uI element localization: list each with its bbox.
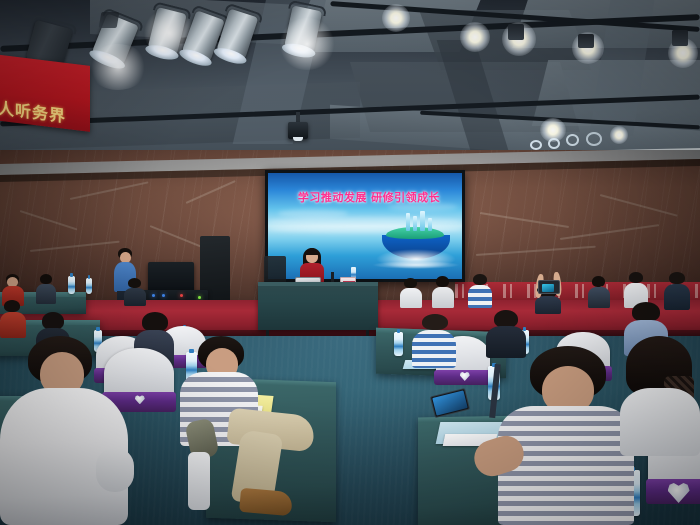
downlight-can	[672, 30, 688, 46]
ship-tower	[413, 216, 417, 231]
ship-tower	[420, 211, 425, 231]
head-table	[258, 282, 378, 330]
downlight-can	[508, 24, 524, 40]
attendee-shirt	[535, 296, 561, 314]
attendee-hair	[40, 274, 52, 284]
ring-light	[586, 132, 602, 146]
chair-leg-cover	[188, 452, 210, 510]
attendee-shirt	[412, 330, 456, 368]
microphone-stand	[331, 272, 334, 282]
projector-lens	[293, 137, 303, 141]
attendee-arm	[96, 448, 134, 492]
status-led	[162, 294, 165, 297]
slide-title-text: 学习推动发展 研修引领成长	[274, 189, 462, 205]
ceiling-downlight	[610, 126, 628, 144]
attendee-hair	[128, 278, 141, 288]
attendee-hair	[669, 272, 685, 284]
attendee-foreground-left	[0, 336, 128, 525]
attendee-hair	[436, 276, 449, 287]
attendee	[124, 278, 146, 306]
status-led	[198, 296, 201, 299]
ship-tower	[428, 218, 432, 231]
slide-cloud	[278, 209, 348, 218]
attendee-on-phone	[496, 346, 636, 525]
conference-hall-photo: 人听务界 学习推动发展 研修引领成长	[0, 0, 700, 525]
attendee-shirt	[588, 287, 610, 308]
wall-texture-line	[20, 210, 78, 230]
slide-ship-graphic	[376, 213, 456, 271]
compact-camera	[538, 280, 560, 294]
attendee-shirt	[620, 388, 700, 456]
wall-texture-line	[476, 246, 596, 256]
wall-texture-line	[600, 194, 678, 217]
attendee	[412, 314, 456, 368]
attendee-hair	[592, 276, 605, 287]
attendee-hair	[404, 278, 417, 288]
wall-texture-line	[186, 180, 236, 204]
attendee-hair	[629, 272, 643, 283]
attendee	[36, 274, 56, 304]
attendee	[0, 300, 26, 338]
status-led	[152, 294, 155, 297]
attendee-shirt	[468, 285, 492, 308]
av-mixer-case	[148, 262, 194, 292]
attendee-right	[620, 336, 700, 456]
attendee-hair	[473, 274, 487, 285]
attendee-hair	[142, 312, 168, 332]
ceiling-downlight	[460, 22, 490, 52]
downlight-can	[99, 12, 120, 28]
attendee-shirt	[432, 287, 454, 308]
water-bottle	[68, 276, 75, 294]
attendee	[468, 274, 492, 308]
ship-tower	[406, 213, 410, 231]
attendee-hair	[4, 300, 20, 312]
attendee	[588, 276, 610, 308]
attendee-shirt	[124, 288, 146, 306]
ceiling-downlight	[382, 4, 410, 32]
ship-wake	[372, 261, 460, 269]
wall-texture-line	[480, 212, 569, 228]
attendee	[432, 276, 454, 308]
attendee-hair	[632, 302, 660, 322]
ring-light	[566, 134, 579, 146]
presenter-fringe	[305, 248, 319, 255]
water-bottle	[86, 278, 92, 294]
projection-screen: 学习推动发展 研修引领成长	[265, 170, 465, 282]
wall-texture-line	[560, 224, 659, 240]
attendee	[400, 278, 422, 308]
downlight-can	[578, 34, 594, 48]
status-led	[180, 294, 183, 297]
wall-texture-line	[30, 241, 120, 252]
attendee-shirt	[36, 284, 56, 304]
red-wall-banner: 人听务界	[0, 54, 90, 132]
camera-screen	[542, 284, 554, 292]
attendee-shirt	[0, 312, 26, 338]
attendee-hair	[422, 314, 448, 330]
wall-texture-line	[70, 181, 149, 200]
ring-light	[530, 140, 542, 150]
attendee-shirt	[400, 288, 422, 308]
ring-light	[548, 138, 560, 149]
water-bottle	[394, 332, 403, 356]
